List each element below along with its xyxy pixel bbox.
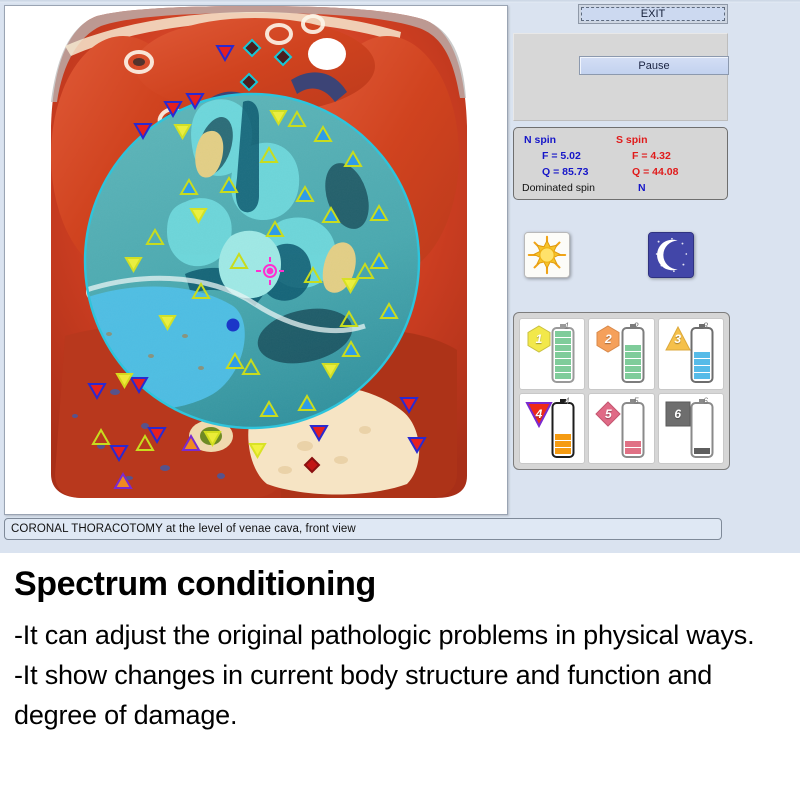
slide-bullet-1: -It can adjust the original pathologic p… — [14, 615, 786, 655]
spectrum-level-panel: 1 1 — [513, 312, 730, 470]
battery-number: 1 — [564, 321, 569, 331]
shape-badge: 5 — [593, 399, 623, 429]
spectrum-level-grid: 1 1 — [519, 318, 724, 464]
battery-gauge: 4 — [550, 397, 576, 459]
n-spin-f: F = 5.02 — [542, 148, 581, 164]
day-mode-button[interactable] — [524, 232, 570, 278]
s-spin-q: Q = 44.08 — [632, 164, 678, 180]
anatomical-section-image — [5, 6, 505, 512]
image-viewer-frame[interactable] — [4, 5, 508, 515]
level-cell[interactable]: 4 4 — [519, 393, 585, 465]
shape-badge: 3 — [663, 324, 693, 354]
dominated-spin-value: N — [638, 180, 646, 196]
shape-number: 4 — [524, 399, 554, 429]
battery-number: 4 — [564, 396, 569, 406]
slide-bullet-2: -It show changes in current body structu… — [14, 655, 786, 735]
battery-gauge: 2 — [620, 322, 646, 384]
exit-button-label: EXIT — [581, 7, 725, 21]
battery-number: 6 — [703, 396, 708, 406]
shape-badge: 4 — [524, 399, 554, 429]
battery-icon — [620, 397, 646, 459]
screen-root: CORONAL THORACOTOMY at the level of vena… — [0, 0, 800, 800]
shape-badge: 6 — [663, 399, 693, 429]
playback-panel: Pause — [513, 33, 728, 121]
battery-gauge: 6 — [689, 397, 715, 459]
slide-text-area: Spectrum conditioning -It can adjust the… — [0, 553, 800, 800]
night-mode-button[interactable] — [648, 232, 694, 278]
spin-f-row: F = 5.02 F = 4.32 — [520, 148, 727, 164]
pause-button-label: Pause — [638, 60, 669, 72]
shape-number: 6 — [663, 399, 693, 429]
battery-icon — [550, 322, 576, 384]
shape-badge: 1 — [524, 324, 554, 354]
s-spin-f: F = 4.32 — [632, 148, 671, 164]
battery-gauge: 5 — [620, 397, 646, 459]
shape-number: 5 — [593, 399, 623, 429]
level-cell[interactable]: 1 1 — [519, 318, 585, 390]
battery-number: 5 — [634, 396, 639, 406]
moon-icon — [649, 233, 693, 277]
level-cell[interactable]: 2 2 — [588, 318, 654, 390]
image-viewer-canvas[interactable] — [5, 6, 505, 512]
battery-icon — [550, 397, 576, 459]
spin-readout-panel: N spin S spin F = 5.02 F = 4.32 Q = 85.7… — [513, 127, 728, 200]
n-spin-label: N spin — [524, 132, 556, 148]
level-cell[interactable]: 6 6 — [658, 393, 724, 465]
pause-button[interactable]: Pause — [579, 56, 729, 75]
image-caption-bar: CORONAL THORACOTOMY at the level of vena… — [4, 518, 722, 540]
slide-heading: Spectrum conditioning — [14, 565, 376, 604]
s-spin-label: S spin — [616, 132, 648, 148]
shape-number: 2 — [593, 324, 623, 354]
sun-icon — [525, 233, 569, 277]
shape-badge: 2 — [593, 324, 623, 354]
battery-gauge: 1 — [550, 322, 576, 384]
level-cell[interactable]: 3 3 — [658, 318, 724, 390]
image-caption-text: CORONAL THORACOTOMY at the level of vena… — [11, 523, 356, 535]
dominated-spin-row: Dominated spin N — [520, 180, 727, 196]
battery-icon — [689, 322, 715, 384]
application-window: CORONAL THORACOTOMY at the level of vena… — [0, 0, 800, 553]
battery-icon — [689, 397, 715, 459]
exit-button[interactable]: EXIT — [578, 4, 728, 24]
spin-q-row: Q = 85.73 Q = 44.08 — [520, 164, 727, 180]
battery-gauge: 3 — [689, 322, 715, 384]
n-spin-q: Q = 85.73 — [542, 164, 588, 180]
level-cell[interactable]: 5 5 — [588, 393, 654, 465]
spin-header-row: N spin S spin — [520, 132, 727, 148]
dominated-spin-label: Dominated spin — [522, 180, 595, 196]
shape-number: 3 — [663, 324, 693, 354]
battery-number: 3 — [703, 321, 708, 331]
slide-body: -It can adjust the original pathologic p… — [14, 615, 786, 735]
battery-icon — [620, 322, 646, 384]
battery-number: 2 — [634, 321, 639, 331]
shape-number: 1 — [524, 324, 554, 354]
